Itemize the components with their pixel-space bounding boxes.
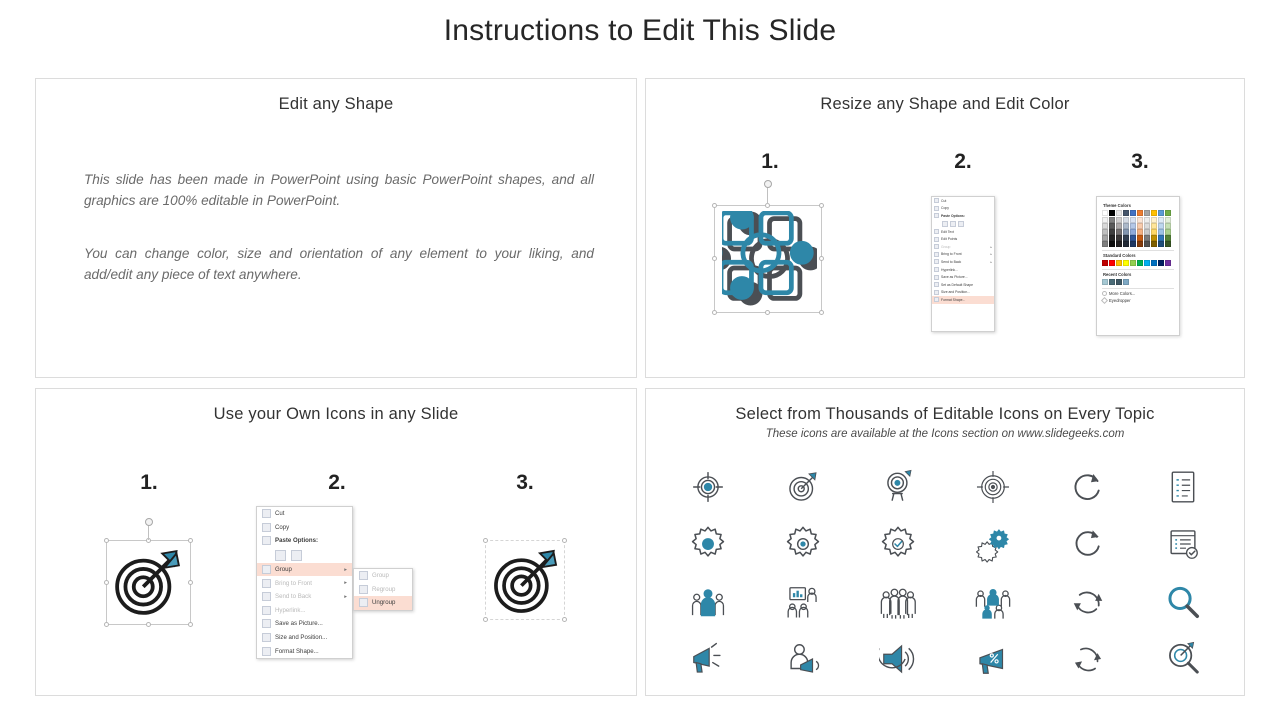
menu-label: Cut — [275, 510, 347, 517]
theme-colors-base-row[interactable] — [1102, 210, 1174, 216]
theme-swatch-5[interactable] — [1130, 210, 1136, 216]
theme-variant-column-7[interactable] — [1144, 217, 1150, 247]
target-dart-icon-3[interactable] — [489, 544, 563, 618]
menu-label: Edit Points — [941, 237, 992, 241]
theme-swatch-6[interactable] — [1137, 210, 1143, 216]
standard-swatch-10[interactable] — [1165, 260, 1171, 266]
paste-option-icon-1[interactable] — [942, 221, 948, 227]
submenu-arrow-icon: ▸ — [990, 245, 992, 249]
menu-item-save-as-picture[interactable]: Save as Picture... — [257, 617, 352, 631]
menu-icon-size-and-position — [262, 633, 271, 642]
target-dart-icon-1[interactable] — [110, 544, 186, 620]
context-submenu-ungroup[interactable]: GroupRegroupUngroup — [353, 568, 413, 611]
menu-label: Size and Position... — [275, 634, 347, 641]
menu-label: Group — [941, 245, 988, 249]
standard-swatch-2[interactable] — [1109, 260, 1115, 266]
theme-swatch-3[interactable] — [1116, 210, 1122, 216]
theme-swatch-1[interactable] — [1102, 210, 1108, 216]
menu-label: Group — [372, 572, 407, 579]
menu-icon-paste-options — [262, 536, 271, 545]
color-picker-divider-3 — [1102, 288, 1174, 289]
menu-item-group: Group — [354, 569, 412, 583]
theme-variant-column-5[interactable] — [1130, 217, 1136, 247]
menu-item-paste-options[interactable]: Paste Options: — [257, 534, 352, 548]
checklist-document-icon[interactable] — [1164, 468, 1202, 506]
submenu-arrow-icon: ▸ — [990, 252, 992, 256]
panel-title-resize-shape: Resize any Shape and Edit Color — [646, 95, 1244, 114]
menu-label: Copy — [941, 206, 992, 210]
standard-swatch-9[interactable] — [1158, 260, 1164, 266]
menu-icon-copy — [934, 206, 939, 211]
crosshair-ring-icon[interactable] — [974, 468, 1012, 506]
menu-item-size-and-position[interactable]: Size and Position... — [932, 289, 994, 297]
menu-icon-bring-to-front — [934, 252, 939, 257]
menu-icon-bring-to-front — [262, 579, 271, 588]
theme-variant-column-3[interactable] — [1116, 217, 1122, 247]
recent-colors-row[interactable] — [1102, 279, 1174, 285]
magnifier-target-icon[interactable] — [1164, 640, 1202, 678]
rotation-handle[interactable] — [764, 180, 772, 188]
menu-icon-format-shape — [262, 647, 271, 656]
gear-check-icon[interactable] — [879, 525, 917, 563]
recent-colors-heading: Recent Colors — [1103, 272, 1174, 277]
menu-item-copy[interactable]: Copy — [932, 205, 994, 213]
menu-item-size-and-position[interactable]: Size and Position... — [257, 631, 352, 645]
theme-variant-column-4[interactable] — [1123, 217, 1129, 247]
target-dart-icon[interactable] — [784, 468, 822, 506]
menu-label: Bring to Front — [941, 252, 988, 256]
recent-swatch-4[interactable] — [1123, 279, 1129, 285]
eyedropper-item[interactable]: Eyedropper — [1102, 298, 1174, 303]
icon1-handle-e[interactable] — [188, 580, 193, 585]
menu-icon-edit-text — [934, 229, 939, 234]
resize-handle-sw[interactable] — [712, 310, 717, 315]
resize-handle-s[interactable] — [765, 310, 770, 315]
menu-label: Edit Text — [941, 230, 992, 234]
standard-colors-heading: Standard Colors — [1103, 253, 1174, 258]
menu-icon-cut — [262, 509, 271, 518]
menu-icon-regroup — [359, 585, 368, 594]
color-picker-divider-2 — [1102, 269, 1174, 270]
icon-library-grid — [660, 458, 1230, 688]
menu-item-paste-options[interactable]: Paste Options: — [932, 212, 994, 220]
menu-label: Send to Back — [941, 260, 988, 264]
menu-label: Bring to Front — [275, 580, 340, 587]
resize-handle-se[interactable] — [819, 310, 824, 315]
double-gear-icon[interactable] — [974, 525, 1012, 563]
menu-item-send-to-back[interactable]: Send to Back▸ — [932, 258, 994, 266]
menu-item-hyperlink: Hyperlink... — [257, 604, 352, 618]
icon3-handle-sw[interactable] — [483, 617, 488, 622]
target-stand-icon[interactable] — [879, 468, 917, 506]
own-icons-step-number-3: 3. — [505, 471, 545, 495]
theme-variant-column-9[interactable] — [1158, 217, 1164, 247]
menu-item-group[interactable]: Group▸ — [257, 563, 352, 577]
theme-swatch-8[interactable] — [1151, 210, 1157, 216]
menu-icon-group — [359, 571, 368, 580]
magnifier-icon[interactable] — [1164, 583, 1202, 621]
resize-step-number-2: 2. — [943, 150, 983, 174]
circular-arrows-icon[interactable] — [1069, 640, 1107, 678]
menu-icon-send-to-back — [934, 259, 939, 264]
menu-icon-copy — [262, 523, 271, 532]
checklist-approved-icon[interactable] — [1164, 525, 1202, 563]
menu-label: Format Shape... — [941, 298, 992, 302]
menu-label: Set as Default Shape — [941, 283, 992, 287]
menu-icon-cut — [934, 198, 939, 203]
icon1-rotation-stem — [148, 524, 149, 540]
resize-step-number-3: 3. — [1120, 150, 1160, 174]
theme-color-picker[interactable]: Theme Colors Standard Colors Recent Colo… — [1096, 196, 1180, 336]
resize-handle-e[interactable] — [819, 256, 824, 261]
menu-item-save-as-picture[interactable]: Save as Picture... — [932, 273, 994, 281]
theme-variant-10-5[interactable] — [1165, 241, 1171, 247]
menu-label: Ungroup — [372, 599, 407, 606]
resize-handle-w[interactable] — [712, 256, 717, 261]
menu-icon-save-as-picture — [934, 275, 939, 280]
paste-option-icon-3[interactable] — [958, 221, 964, 227]
theme-variant-column-10[interactable] — [1165, 217, 1171, 247]
menu-label: Save as Picture... — [941, 275, 992, 279]
theme-swatch-7[interactable] — [1144, 210, 1150, 216]
theme-swatch-2[interactable] — [1109, 210, 1115, 216]
menu-label: Save as Picture... — [275, 620, 347, 627]
presentation-team-icon[interactable] — [784, 583, 822, 621]
more-colors-label: More Colors... — [1109, 291, 1135, 296]
menu-item-bring-to-front[interactable]: Bring to Front▸ — [932, 251, 994, 259]
standard-colors-row[interactable] — [1102, 260, 1174, 266]
icon1-handle-ne[interactable] — [188, 538, 193, 543]
menu-icon-set-as-default-shape — [934, 282, 939, 287]
theme-variant-6-5[interactable] — [1137, 241, 1143, 247]
menu-label: Format Shape... — [275, 648, 347, 655]
menu-item-bring-to-front: Bring to Front▸ — [257, 576, 352, 590]
submenu-arrow-icon: ▸ — [344, 580, 347, 586]
rotation-stem — [767, 186, 768, 204]
theme-variant-8-5[interactable] — [1151, 241, 1157, 247]
eyedropper-icon — [1101, 297, 1108, 304]
theme-variant-3-5[interactable] — [1116, 241, 1122, 247]
icon1-rotation-handle[interactable] — [145, 518, 153, 526]
menu-icon-ungroup — [359, 598, 368, 607]
menu-item-group: Group▸ — [932, 243, 994, 251]
edit-shape-paragraph-1: This slide has been made in PowerPoint u… — [84, 169, 594, 211]
submenu-arrow-icon: ▸ — [344, 567, 347, 573]
menu-item-format-shape[interactable]: Format Shape... — [932, 296, 994, 304]
megaphone-discount-icon[interactable] — [974, 640, 1012, 678]
panel-title-own-icons: Use your Own Icons in any Slide — [36, 405, 636, 424]
theme-swatch-9[interactable] — [1158, 210, 1164, 216]
panel-title-editable-icons: Select from Thousands of Editable Icons … — [646, 405, 1244, 424]
editable-shape-graphic[interactable] — [722, 211, 817, 306]
theme-swatch-4[interactable] — [1123, 210, 1129, 216]
speaker-announce-icon[interactable] — [879, 640, 917, 678]
standard-swatch-1[interactable] — [1102, 260, 1108, 266]
menu-label: Paste Options: — [941, 214, 992, 218]
theme-variant-1-5[interactable] — [1102, 241, 1108, 247]
recent-swatch-1[interactable] — [1102, 279, 1108, 285]
theme-variant-column-2[interactable] — [1109, 217, 1115, 247]
theme-variant-9-5[interactable] — [1158, 241, 1164, 247]
theme-variant-column-6[interactable] — [1137, 217, 1143, 247]
person-megaphone-icon[interactable] — [784, 640, 822, 678]
theme-colors-heading: Theme Colors — [1103, 203, 1174, 208]
menu-item-edit-text[interactable]: Edit Text — [932, 228, 994, 236]
menu-item-copy[interactable]: Copy — [257, 521, 352, 535]
resize-step-number-1: 1. — [750, 150, 790, 174]
standard-swatch-6[interactable] — [1137, 260, 1143, 266]
menu-label: Hyperlink... — [941, 268, 992, 272]
paste-option-icon-2[interactable] — [950, 221, 956, 227]
team-meeting-icon[interactable] — [974, 583, 1012, 621]
menu-item-cut[interactable]: Cut — [257, 507, 352, 521]
menu-icon-hyperlink — [262, 606, 271, 615]
panel-edit-any-shape: Edit any Shape This slide has been made … — [35, 78, 637, 378]
team-people-icon[interactable] — [689, 583, 727, 621]
theme-variant-5-5[interactable] — [1130, 241, 1136, 247]
menu-icon-hyperlink — [934, 267, 939, 272]
panel-subtitle-editable-icons: These icons are available at the Icons s… — [646, 428, 1244, 440]
icon1-handle-se[interactable] — [188, 622, 193, 627]
menu-item-edit-points[interactable]: Edit Points — [932, 235, 994, 243]
standard-swatch-8[interactable] — [1151, 260, 1157, 266]
menu-item-set-as-default-shape[interactable]: Set as Default Shape — [932, 281, 994, 289]
slide-canvas: Instructions to Edit This Slide Edit any… — [0, 0, 1280, 720]
menu-label: Group — [275, 566, 340, 573]
refresh-arrow-icon[interactable] — [1069, 525, 1107, 563]
menu-icon-size-and-position — [934, 290, 939, 295]
rotate-clockwise-icon[interactable] — [1069, 468, 1107, 506]
standard-swatch-7[interactable] — [1144, 260, 1150, 266]
menu-label: Paste Options: — [275, 537, 347, 544]
color-picker-divider-1 — [1102, 250, 1174, 251]
megaphone-icon[interactable] — [689, 640, 727, 678]
menu-icon-save-as-picture — [262, 619, 271, 628]
more-colors-item[interactable]: More Colors... — [1102, 291, 1174, 296]
own-icons-step-number-1: 1. — [129, 471, 169, 495]
palette-icon — [1102, 291, 1107, 296]
menu-label: Cut — [941, 199, 992, 203]
menu-item-hyperlink[interactable]: Hyperlink... — [932, 266, 994, 274]
standard-swatch-5[interactable] — [1130, 260, 1136, 266]
submenu-arrow-icon: ▸ — [990, 260, 992, 264]
page-title: Instructions to Edit This Slide — [0, 14, 1280, 48]
resize-handle-nw[interactable] — [712, 203, 717, 208]
icon3-handle-ne[interactable] — [562, 538, 567, 543]
context-menu-format-shape[interactable]: CutCopyPaste Options:Edit TextEdit Point… — [931, 196, 995, 332]
menu-label: Copy — [275, 524, 347, 531]
gear-center-icon[interactable] — [784, 525, 822, 563]
menu-label: Hyperlink... — [275, 607, 347, 614]
theme-variant-column-1[interactable] — [1102, 217, 1108, 247]
context-menu-group[interactable]: CutCopyPaste Options:Group▸Bring to Fron… — [256, 506, 353, 659]
group-people-icon[interactable] — [879, 583, 917, 621]
panel-title-edit-shape: Edit any Shape — [36, 95, 636, 114]
own-icons-step-number-2: 2. — [317, 471, 357, 495]
resize-handle-ne[interactable] — [819, 203, 824, 208]
icon1-handle-nw[interactable] — [104, 538, 109, 543]
theme-variant-7-5[interactable] — [1144, 241, 1150, 247]
menu-label: Regroup — [372, 586, 407, 593]
submenu-arrow-icon: ▸ — [344, 594, 347, 600]
icon1-handle-sw[interactable] — [104, 622, 109, 627]
theme-colors-variant-grid[interactable] — [1102, 217, 1174, 247]
sync-arrows-icon[interactable] — [1069, 583, 1107, 621]
theme-variant-4-5[interactable] — [1123, 241, 1129, 247]
eyedropper-label: Eyedropper — [1109, 298, 1131, 303]
icon3-handle-nw[interactable] — [483, 538, 488, 543]
theme-variant-column-8[interactable] — [1151, 217, 1157, 247]
menu-item-ungroup[interactable]: Ungroup — [354, 596, 412, 610]
menu-label: Send to Back — [275, 593, 340, 600]
menu-item-send-to-back: Send to Back▸ — [257, 590, 352, 604]
menu-icon-group — [262, 565, 271, 574]
menu-icon-group — [934, 244, 939, 249]
recent-swatch-3[interactable] — [1116, 279, 1122, 285]
icon1-handle-w[interactable] — [104, 580, 109, 585]
paste-option-icon-2[interactable] — [291, 550, 302, 561]
paste-options-row[interactable] — [932, 220, 994, 228]
standard-swatch-3[interactable] — [1116, 260, 1122, 266]
menu-item-cut[interactable]: Cut — [932, 197, 994, 205]
menu-icon-format-shape — [934, 297, 939, 302]
recent-swatch-2[interactable] — [1109, 279, 1115, 285]
menu-icon-edit-points — [934, 237, 939, 242]
icon1-handle-s[interactable] — [146, 622, 151, 627]
theme-variant-2-5[interactable] — [1109, 241, 1115, 247]
theme-swatch-10[interactable] — [1165, 210, 1171, 216]
paste-options-row[interactable] — [257, 548, 352, 563]
menu-icon-paste-options — [934, 213, 939, 218]
standard-swatch-4[interactable] — [1123, 260, 1129, 266]
menu-item-regroup: Regroup — [354, 583, 412, 597]
crosshair-target-icon[interactable] — [689, 468, 727, 506]
menu-label: Size and Position... — [941, 290, 992, 294]
paste-option-icon-1[interactable] — [275, 550, 286, 561]
edit-shape-paragraph-2: You can change color, size and orientati… — [84, 243, 594, 285]
menu-item-format-shape[interactable]: Format Shape... — [257, 644, 352, 658]
gear-solid-icon[interactable] — [689, 525, 727, 563]
menu-icon-send-to-back — [262, 592, 271, 601]
